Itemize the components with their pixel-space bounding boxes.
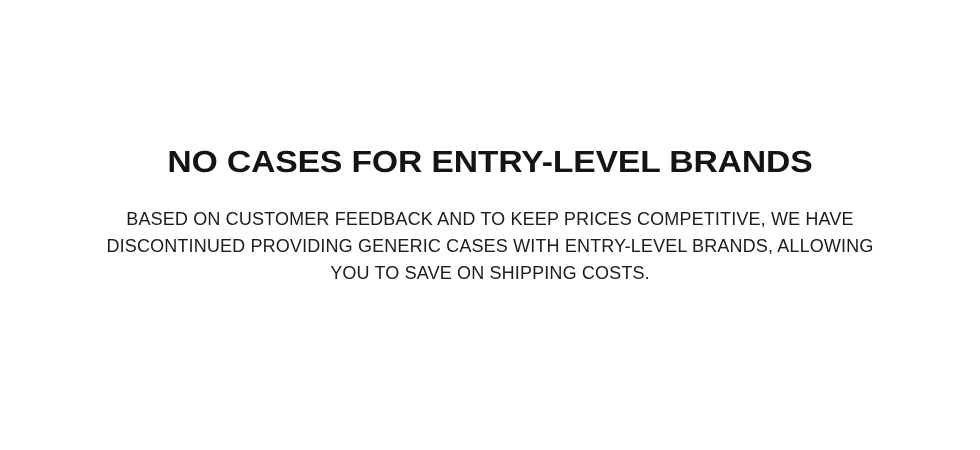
promo-description: BASED ON CUSTOMER FEEDBACK AND TO KEEP P… [90, 181, 890, 287]
page-title: NO CASES FOR ENTRY-LEVEL BRANDS [2, 143, 979, 181]
promo-content: NO CASES FOR ENTRY-LEVEL BRANDS BASED ON… [40, 143, 940, 287]
promo-banner: NO CASES FOR ENTRY-LEVEL BRANDS BASED ON… [0, 0, 980, 450]
